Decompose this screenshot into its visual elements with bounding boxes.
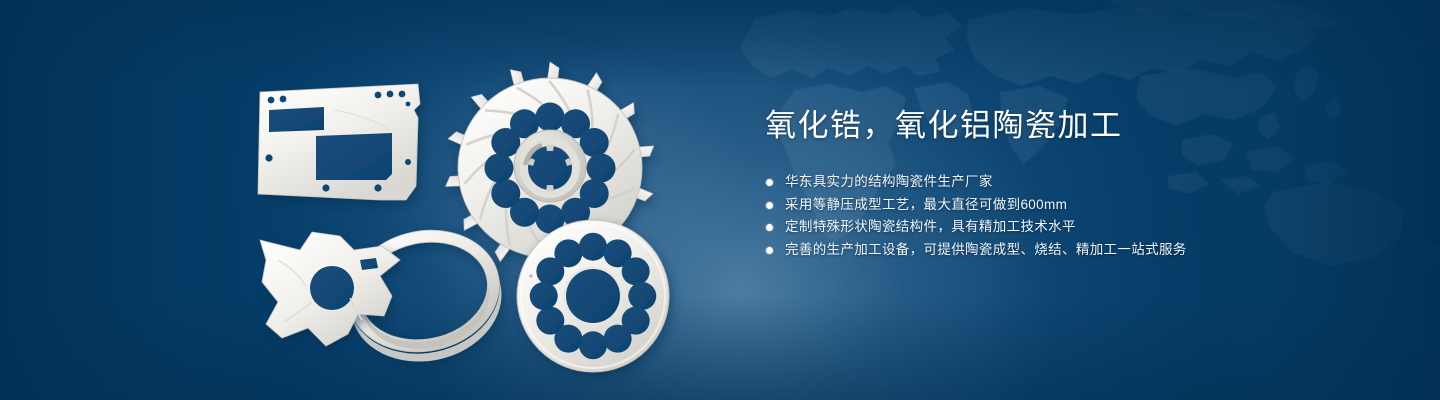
banner-copy: 氧化锆，氧化铝陶瓷加工 华东具实力的结构陶瓷件生产厂家 采用等静压成型工艺，最大…	[765, 104, 1365, 261]
ceramic-products-image	[238, 38, 698, 383]
list-item: 华东具实力的结构陶瓷件生产厂家	[765, 171, 1365, 194]
list-item-label: 采用等静压成型工艺，最大直径可做到600mm	[785, 197, 1067, 212]
bullet-dot-icon	[766, 247, 773, 254]
bullet-dot-icon	[766, 202, 773, 209]
list-item: 采用等静压成型工艺，最大直径可做到600mm	[765, 194, 1365, 217]
feature-list: 华东具实力的结构陶瓷件生产厂家 采用等静压成型工艺，最大直径可做到600mm 定…	[765, 171, 1365, 261]
hero-banner: 氧化锆，氧化铝陶瓷加工 华东具实力的结构陶瓷件生产厂家 采用等静压成型工艺，最大…	[0, 0, 1440, 400]
list-item: 定制特殊形状陶瓷结构件，具有精加工技术水平	[765, 216, 1365, 239]
bullet-dot-icon	[766, 224, 773, 231]
ceramic-perforated-ring-disc	[517, 220, 669, 372]
list-item: 完善的生产加工设备，可提供陶瓷成型、烧结、精加工一站式服务	[765, 239, 1365, 262]
list-item-label: 定制特殊形状陶瓷结构件，具有精加工技术水平	[785, 219, 1076, 234]
list-item-label: 完善的生产加工设备，可提供陶瓷成型、烧结、精加工一站式服务	[785, 242, 1187, 257]
list-item-label: 华东具实力的结构陶瓷件生产厂家	[785, 174, 993, 189]
ceramic-mounting-plate	[258, 84, 420, 200]
bullet-dot-icon	[766, 179, 773, 186]
page-title: 氧化锆，氧化铝陶瓷加工	[765, 104, 1365, 148]
